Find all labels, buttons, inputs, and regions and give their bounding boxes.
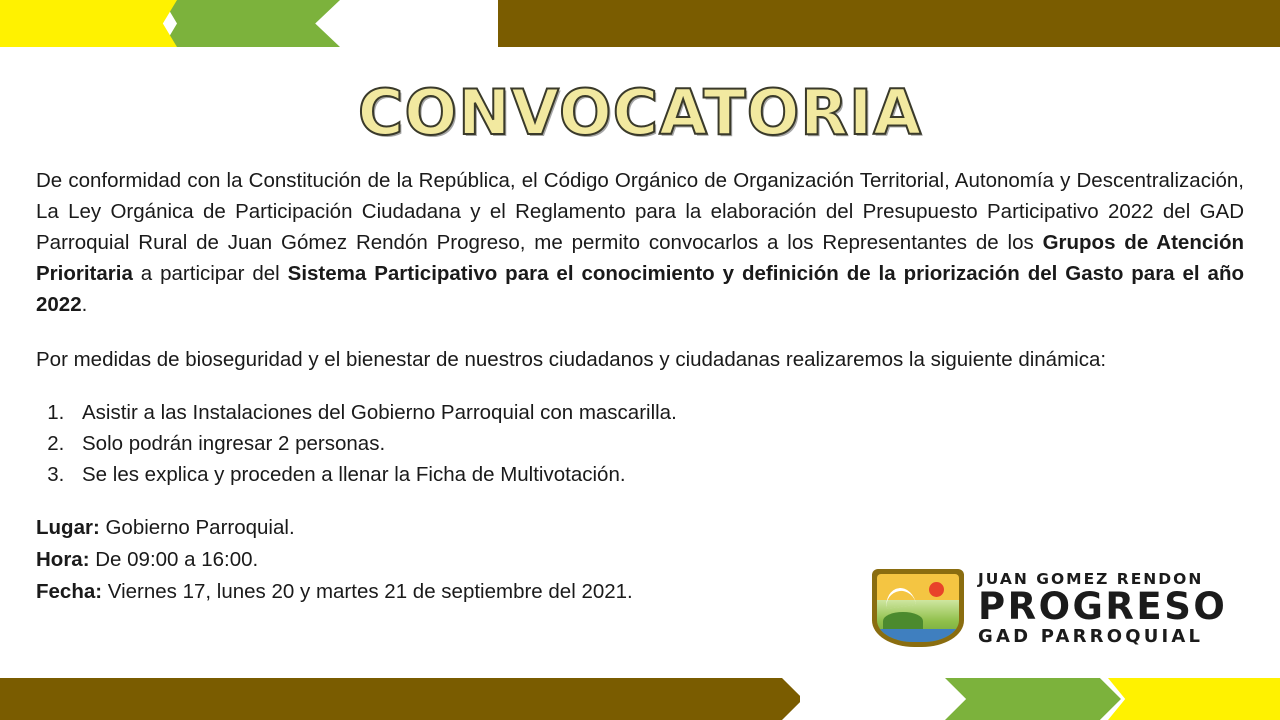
bottom-band-brown xyxy=(0,678,800,720)
hill-shape xyxy=(883,612,923,630)
logo-line-2: PROGRESO xyxy=(978,588,1227,626)
detail-lugar-label: Lugar: xyxy=(36,516,100,539)
top-band-brown xyxy=(496,0,1280,47)
list-item: Asistir a las Instalaciones del Gobierno… xyxy=(70,397,1244,428)
institution-logo: JUAN GOMEZ RENDON PROGRESO GAD PARROQUIA… xyxy=(872,566,1248,650)
document-body: De conformidad con la Constitución de la… xyxy=(36,165,1244,608)
top-band-white xyxy=(326,0,498,47)
spacer-after-paragraph-1 xyxy=(36,320,1244,344)
paragraph-bioseguridad: Por medidas de bioseguridad y el bienest… xyxy=(36,344,1244,375)
paragraph-part-3: . xyxy=(82,293,88,316)
logo-text-block: JUAN GOMEZ RENDON PROGRESO GAD PARROQUIA… xyxy=(978,570,1227,647)
detail-lugar: Lugar: Gobierno Parroquial. xyxy=(36,512,1244,544)
top-band-green xyxy=(163,0,340,47)
detail-hora-label: Hora: xyxy=(36,548,90,571)
bottom-band-green xyxy=(945,678,1121,720)
list-item: Solo podrán ingresar 2 personas. xyxy=(70,428,1244,459)
detail-fecha-label: Fecha: xyxy=(36,580,102,603)
detail-lugar-value: Gobierno Parroquial. xyxy=(100,516,295,539)
top-band-yellow xyxy=(0,0,177,47)
page-title: CONVOCATORIA xyxy=(0,76,1280,149)
list-item: Se les explica y proceden a llenar la Fi… xyxy=(70,459,1244,490)
bottom-band-yellow xyxy=(1108,678,1280,720)
logo-line-3: GAD PARROQUIAL xyxy=(978,626,1227,647)
steps-list: Asistir a las Instalaciones del Gobierno… xyxy=(36,397,1244,490)
spacer-after-paragraph-2 xyxy=(36,375,1244,397)
sun-icon xyxy=(929,582,944,597)
detail-fecha-value: Viernes 17, lunes 20 y martes 21 de sept… xyxy=(102,580,633,603)
paragraph-part-2: a participar del xyxy=(133,262,288,285)
shield-shape xyxy=(872,569,964,647)
bottom-band-white xyxy=(782,678,958,720)
bottom-decorative-bar xyxy=(0,678,1280,720)
bird-icon xyxy=(884,586,916,609)
coat-of-arms-icon xyxy=(872,569,964,647)
detail-hora-value: De 09:00 a 16:00. xyxy=(90,548,259,571)
paragraph-convocatoria: De conformidad con la Constitución de la… xyxy=(36,165,1244,320)
shield-inner xyxy=(877,574,959,642)
water-shape xyxy=(877,629,959,642)
top-decorative-bar xyxy=(0,0,1280,47)
